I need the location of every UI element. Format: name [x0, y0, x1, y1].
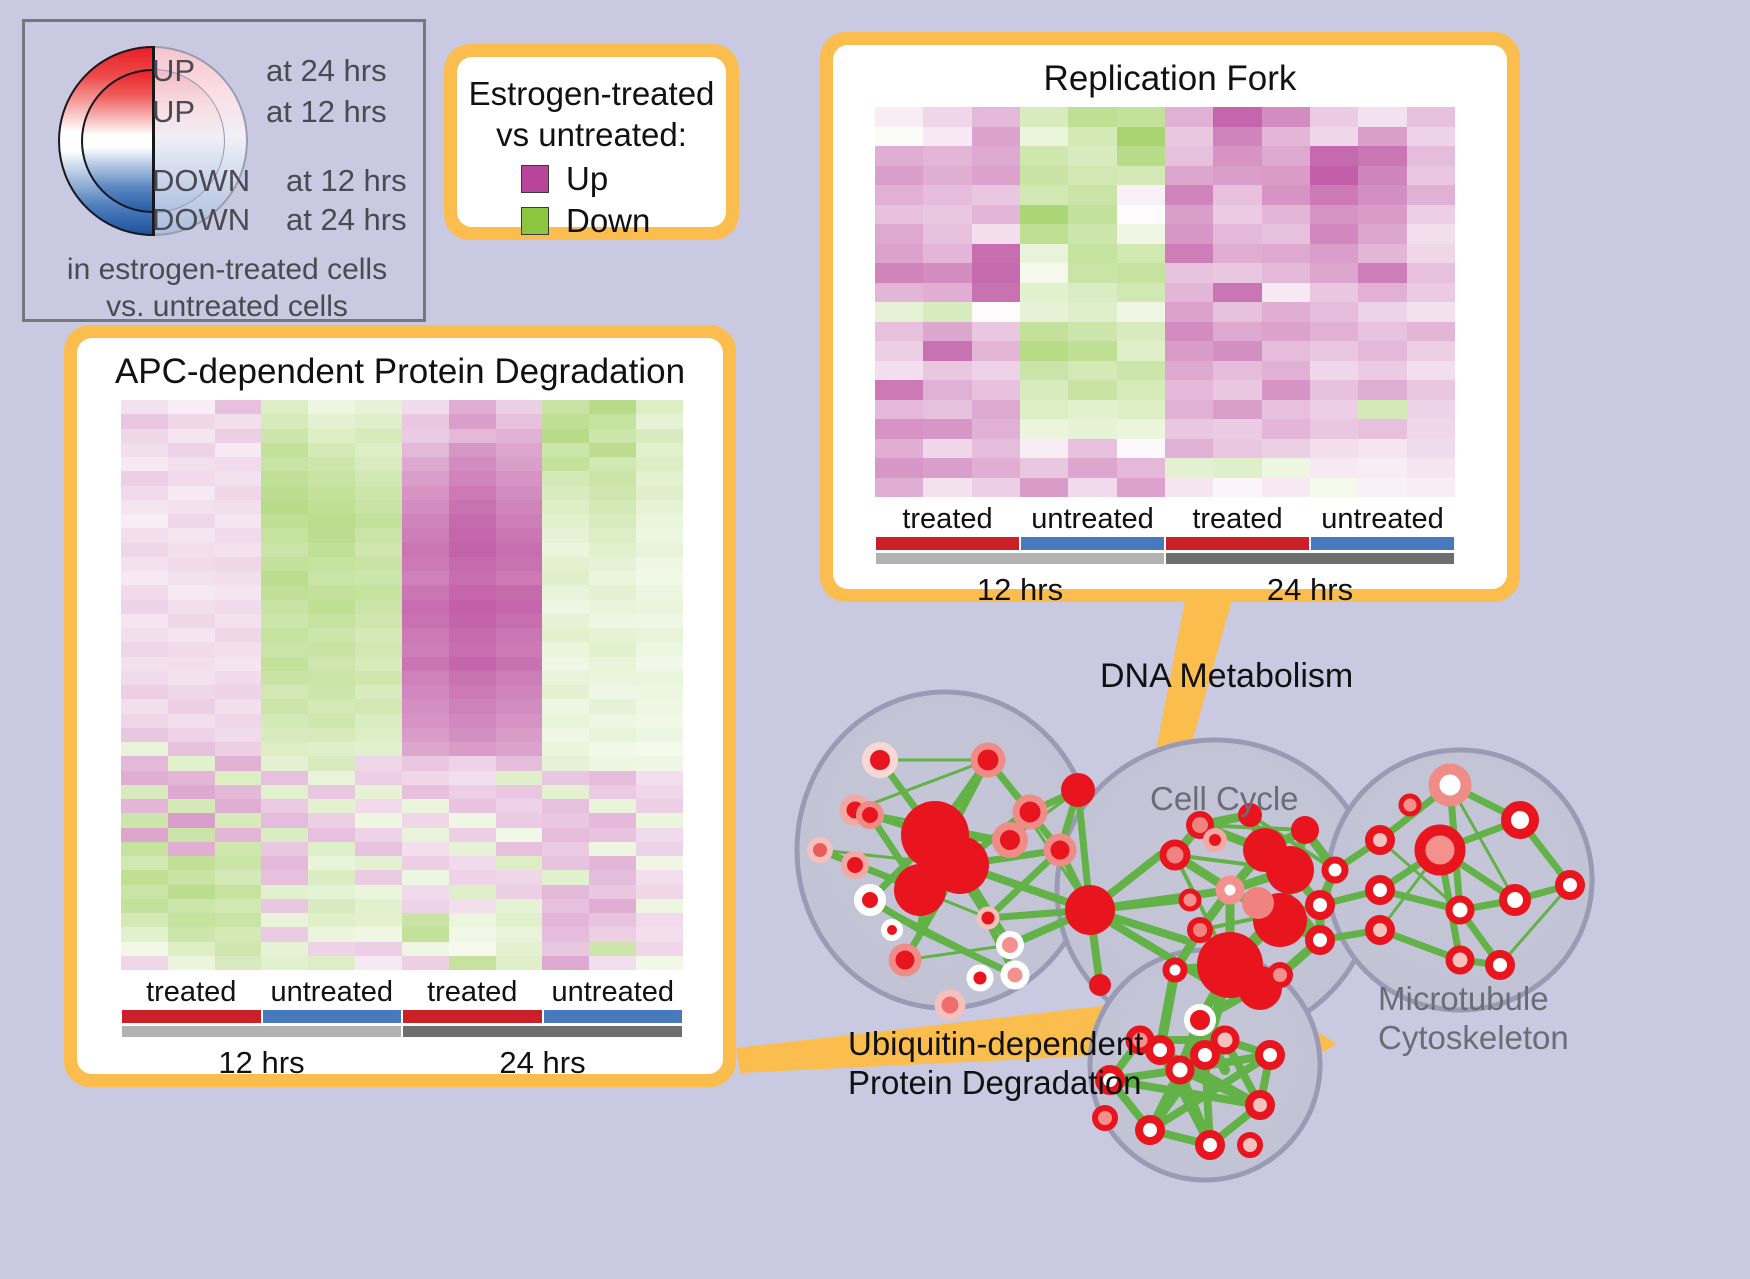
- network-node: [1139, 1119, 1161, 1141]
- heatmap-cell: [168, 785, 215, 799]
- heatmap-cell: [355, 742, 402, 756]
- heatmap-cell: [308, 543, 355, 557]
- heatmap-cell: [449, 828, 496, 842]
- heatmap-cell: [1213, 224, 1261, 244]
- heatmap-cell: [1310, 205, 1358, 225]
- heatmap-cell: [1310, 244, 1358, 264]
- heatmap-cell: [355, 557, 402, 571]
- heatmap-cell: [636, 443, 683, 457]
- ring-label-up-24: UP: [152, 53, 195, 89]
- heatmap-cell: [308, 614, 355, 628]
- heatmap-cell: [1310, 400, 1358, 420]
- heatmap-cell: [496, 828, 543, 842]
- heatmap-cell: [589, 785, 636, 799]
- heatmap-cell: [1068, 127, 1116, 147]
- heatmap-cell: [923, 380, 971, 400]
- heatmap-cell: [496, 514, 543, 528]
- heatmap-cell: [355, 785, 402, 799]
- heatmap-cell: [168, 742, 215, 756]
- heatmap-cell: [121, 600, 168, 614]
- heatmap-cell: [449, 927, 496, 941]
- heatmap-cell: [1358, 283, 1406, 303]
- heatmap-cell: [121, 614, 168, 628]
- heatmap-cell: [355, 856, 402, 870]
- heatmap-cell: [355, 927, 402, 941]
- heatmap-cell: [261, 899, 308, 913]
- heatmap-cell: [355, 913, 402, 927]
- heatmap-cell: [168, 842, 215, 856]
- heatmap-cell: [402, 756, 449, 770]
- network-node: [884, 922, 900, 938]
- heatmap-cell: [972, 458, 1020, 478]
- heatmap-cell: [449, 699, 496, 713]
- heatmap-cell: [449, 728, 496, 742]
- heatmap-cell: [121, 400, 168, 414]
- heatmap-cell: [636, 642, 683, 656]
- heatmap-cell: [589, 600, 636, 614]
- heatmap-cell: [121, 500, 168, 514]
- heatmap-cell: [589, 614, 636, 628]
- heatmap-cell: [215, 514, 262, 528]
- heatmap-cell: [875, 127, 923, 147]
- heatmap-cell: [449, 471, 496, 485]
- heatmap-cell: [1262, 205, 1310, 225]
- legend-item-up: Up: [457, 160, 726, 198]
- heatmap-cell: [589, 585, 636, 599]
- heatmap-cell: [168, 671, 215, 685]
- heatmap-cell: [261, 443, 308, 457]
- axis-treatment-bar: [263, 1010, 402, 1023]
- heatmap-cell: [1117, 107, 1165, 127]
- network-node: [1369, 829, 1391, 851]
- heatmap-cell: [402, 642, 449, 656]
- heatmap-cell: [1068, 322, 1116, 342]
- heatmap-cell: [496, 500, 543, 514]
- heatmap-cell: [1117, 185, 1165, 205]
- heatmap-cell: [496, 414, 543, 428]
- heatmap-cell: [542, 828, 589, 842]
- heatmap-cell: [402, 671, 449, 685]
- heatmap-cell: [355, 728, 402, 742]
- axis-group-labels: treateduntreatedtreateduntreated: [121, 976, 683, 1010]
- heatmap-cell: [1310, 107, 1358, 127]
- network-node: [1199, 1134, 1221, 1156]
- ring-legend-footer-line1: in estrogen-treated cells: [25, 252, 429, 289]
- heatmap-cell: [1117, 166, 1165, 186]
- heatmap-cell: [215, 443, 262, 457]
- heatmap-cell: [449, 842, 496, 856]
- axis-group-label: treated: [875, 503, 1020, 536]
- heatmap-cell: [215, 828, 262, 842]
- heatmap-cell: [1117, 478, 1165, 498]
- network-node: [1489, 954, 1511, 976]
- heatmap-cell: [168, 657, 215, 671]
- heatmap-cell: [402, 400, 449, 414]
- heatmap-cell: [449, 642, 496, 656]
- heatmap-cell: [215, 471, 262, 485]
- heatmap-cell: [168, 714, 215, 728]
- heatmap-cell: [636, 471, 683, 485]
- heatmap-cell: [308, 671, 355, 685]
- heatmap-cell: [496, 657, 543, 671]
- heatmap-cell: [215, 585, 262, 599]
- heatmap-cell: [1020, 283, 1068, 303]
- heatmap-cell: [215, 414, 262, 428]
- ring-time-up-12: at 12 hrs: [266, 94, 387, 130]
- heatmap-cell: [402, 899, 449, 913]
- heatmap-cell: [449, 557, 496, 571]
- heatmap-cell: [496, 799, 543, 813]
- heatmap-cell: [496, 870, 543, 884]
- heatmap-cell: [875, 224, 923, 244]
- replication-fork-panel: Replication Fork treateduntreatedtreated…: [820, 32, 1520, 602]
- heatmap-cell: [168, 600, 215, 614]
- heatmap-cell: [215, 799, 262, 813]
- heatmap-cell: [589, 885, 636, 899]
- heatmap-cell: [215, 685, 262, 699]
- axis-time-bar: [403, 1026, 682, 1037]
- network-node: [1309, 929, 1331, 951]
- heatmap-cell: [449, 756, 496, 770]
- heatmap-cell: [636, 571, 683, 585]
- axis-treatment-bar: [1166, 537, 1309, 550]
- heatmap-cell: [402, 714, 449, 728]
- down-color-swatch: [521, 207, 549, 235]
- heatmap-cell: [875, 458, 923, 478]
- heatmap-cell: [589, 828, 636, 842]
- heatmap-cell: [1213, 146, 1261, 166]
- heatmap-cell: [121, 514, 168, 528]
- heatmap-cell: [542, 927, 589, 941]
- heatmap-cell: [449, 956, 496, 970]
- heatmap-cell: [1358, 244, 1406, 264]
- heatmap-cell: [1068, 341, 1116, 361]
- heatmap-cell: [1310, 185, 1358, 205]
- heatmap-cell: [449, 870, 496, 884]
- ring-label-up-12: UP: [152, 94, 195, 130]
- heatmap-cell: [355, 771, 402, 785]
- network-node: [999, 934, 1021, 956]
- heatmap-cell: [355, 628, 402, 642]
- heatmap-cell: [355, 642, 402, 656]
- heatmap-cell: [542, 614, 589, 628]
- heatmap-cell: [308, 457, 355, 471]
- heatmap-cell: [589, 528, 636, 542]
- heatmap-cell: [355, 870, 402, 884]
- heatmap-cell: [168, 414, 215, 428]
- heatmap-cell: [542, 585, 589, 599]
- heatmap-cell: [589, 471, 636, 485]
- network-node: [894, 864, 946, 916]
- heatmap-cell: [923, 107, 971, 127]
- network-node: [1506, 806, 1534, 834]
- heatmap-cell: [261, 642, 308, 656]
- heatmap-cell: [1358, 380, 1406, 400]
- heatmap-cell: [402, 799, 449, 813]
- heatmap-cell: [542, 714, 589, 728]
- heatmap-cell: [1068, 419, 1116, 439]
- apc-heatmap: [121, 400, 683, 970]
- heatmap-cell: [589, 927, 636, 941]
- heatmap-cell: [261, 500, 308, 514]
- heatmap-cell: [308, 429, 355, 443]
- heatmap-cell: [1262, 341, 1310, 361]
- heatmap-cell: [121, 671, 168, 685]
- heatmap-cell: [308, 600, 355, 614]
- heatmap-cell: [215, 913, 262, 927]
- heatmap-cell: [496, 699, 543, 713]
- heatmap-cell: [402, 571, 449, 585]
- heatmap-cell: [261, 870, 308, 884]
- heatmap-cell: [308, 870, 355, 884]
- heatmap-cell: [215, 543, 262, 557]
- heatmap-cell: [1117, 400, 1165, 420]
- heatmap-cell: [355, 600, 402, 614]
- heatmap-cell: [542, 671, 589, 685]
- heatmap-cell: [972, 341, 1020, 361]
- heatmap-cell: [636, 771, 683, 785]
- heatmap-cell: [449, 742, 496, 756]
- heatmap-cell: [589, 714, 636, 728]
- heatmap-cell: [121, 685, 168, 699]
- heatmap-cell: [355, 543, 402, 557]
- heatmap-cell: [542, 657, 589, 671]
- heatmap-cell: [168, 728, 215, 742]
- heatmap-cell: [215, 927, 262, 941]
- heatmap-cell: [215, 699, 262, 713]
- heatmap-cell: [542, 400, 589, 414]
- heatmap-cell: [972, 478, 1020, 498]
- heatmap-cell: [1165, 127, 1213, 147]
- heatmap-cell: [636, 927, 683, 941]
- heatmap-cell: [972, 439, 1020, 459]
- heatmap-cell: [1407, 380, 1455, 400]
- heatmap-cell: [215, 528, 262, 542]
- heatmap-cell: [355, 585, 402, 599]
- heatmap-cell: [1407, 146, 1455, 166]
- heatmap-cell: [496, 571, 543, 585]
- heatmap-cell: [308, 771, 355, 785]
- heatmap-cell: [215, 942, 262, 956]
- heatmap-cell: [308, 885, 355, 899]
- heatmap-cell: [121, 699, 168, 713]
- heatmap-cell: [308, 742, 355, 756]
- heatmap-cell: [923, 205, 971, 225]
- heatmap-cell: [972, 400, 1020, 420]
- heatmap-cell: [449, 414, 496, 428]
- heatmap-cell: [1358, 439, 1406, 459]
- heatmap-cell: [1407, 322, 1455, 342]
- heatmap-cell: [636, 856, 683, 870]
- heatmap-cell: [168, 956, 215, 970]
- heatmap-cell: [589, 457, 636, 471]
- heatmap-cell: [1213, 205, 1261, 225]
- heatmap-cell: [589, 543, 636, 557]
- network-node: [1559, 874, 1581, 896]
- heatmap-cell: [542, 885, 589, 899]
- heatmap-cell: [875, 205, 923, 225]
- heatmap-cell: [261, 414, 308, 428]
- heatmap-cell: [1020, 341, 1068, 361]
- heatmap-cell: [168, 528, 215, 542]
- heatmap-cell: [636, 414, 683, 428]
- axis-treatment-bars: [121, 1010, 683, 1026]
- ring-time-down-24: at 24 hrs: [286, 202, 407, 238]
- heatmap-cell: [308, 443, 355, 457]
- heatmap-cell: [1165, 107, 1213, 127]
- heatmap-cell: [1407, 478, 1455, 498]
- heatmap-cell: [121, 557, 168, 571]
- heatmap-cell: [1213, 478, 1261, 498]
- heatmap-cell: [261, 457, 308, 471]
- heatmap-cell: [1358, 458, 1406, 478]
- heatmap-cell: [168, 500, 215, 514]
- heatmap-cell: [589, 756, 636, 770]
- heatmap-cell: [923, 458, 971, 478]
- heatmap-cell: [496, 714, 543, 728]
- heatmap-cell: [308, 956, 355, 970]
- heatmap-cell: [636, 813, 683, 827]
- heatmap-cell: [1310, 341, 1358, 361]
- heatmap-cell: [449, 571, 496, 585]
- heatmap-cell: [355, 471, 402, 485]
- network-node: [1163, 843, 1187, 867]
- heatmap-cell: [972, 244, 1020, 264]
- heatmap-cell: [636, 842, 683, 856]
- heatmap-cell: [308, 585, 355, 599]
- heatmap-cell: [168, 771, 215, 785]
- heatmap-cell: [1213, 166, 1261, 186]
- heatmap-cell: [1068, 107, 1116, 127]
- heatmap-cell: [215, 557, 262, 571]
- heatmap-cell: [496, 471, 543, 485]
- network-node: [1266, 846, 1314, 894]
- heatmap-cell: [308, 828, 355, 842]
- heatmap-cell: [402, 685, 449, 699]
- heatmap-cell: [636, 557, 683, 571]
- heatmap-cell: [449, 514, 496, 528]
- heatmap-cell: [1310, 419, 1358, 439]
- heatmap-cell: [1068, 478, 1116, 498]
- heatmap-cell: [402, 543, 449, 557]
- axis-time-bar: [1166, 553, 1454, 564]
- heatmap-cell: [168, 471, 215, 485]
- heatmap-cell: [496, 785, 543, 799]
- up-color-swatch: [521, 165, 549, 193]
- heatmap-cell: [1068, 439, 1116, 459]
- heatmap-cell: [261, 585, 308, 599]
- network-node: [1181, 891, 1199, 909]
- heatmap-cell: [636, 785, 683, 799]
- heatmap-cell: [972, 361, 1020, 381]
- heatmap-cell: [1068, 302, 1116, 322]
- heatmap-cell: [1407, 107, 1455, 127]
- heatmap-cell: [875, 263, 923, 283]
- heatmap-cell: [261, 400, 308, 414]
- heatmap-cell: [168, 543, 215, 557]
- heatmap-cell: [121, 927, 168, 941]
- heatmap-cell: [923, 263, 971, 283]
- network-node: [1190, 920, 1210, 940]
- heatmap-cell: [215, 671, 262, 685]
- cluster-label-microtubule: Microtubule Cytoskeleton: [1378, 980, 1569, 1058]
- heatmap-cell: [875, 322, 923, 342]
- heatmap-cell: [542, 457, 589, 471]
- heatmap-cell: [1358, 341, 1406, 361]
- heatmap-cell: [1165, 478, 1213, 498]
- heatmap-cell: [168, 885, 215, 899]
- heatmap-cell: [1165, 205, 1213, 225]
- heatmap-cell: [589, 571, 636, 585]
- heatmap-cell: [121, 942, 168, 956]
- heatmap-cell: [542, 699, 589, 713]
- heatmap-cell: [1407, 127, 1455, 147]
- heatmap-cell: [542, 471, 589, 485]
- apc-axis: treateduntreatedtreateduntreated12 hrs24…: [121, 976, 683, 1081]
- network-node: [1240, 1135, 1260, 1155]
- network-node: [1449, 899, 1471, 921]
- heatmap-cell: [972, 283, 1020, 303]
- heatmap-cell: [121, 885, 168, 899]
- heatmap-cell: [589, 414, 636, 428]
- heatmap-cell: [261, 913, 308, 927]
- heatmap-cell: [402, 471, 449, 485]
- heatmap-cell: [589, 628, 636, 642]
- heatmap-cell: [355, 671, 402, 685]
- heatmap-cell: [402, 628, 449, 642]
- inner-ring-left-half: [81, 69, 153, 213]
- heatmap-cell: [261, 685, 308, 699]
- network-node: [1291, 816, 1319, 844]
- network-node: [1503, 888, 1527, 912]
- heatmap-cell: [542, 728, 589, 742]
- heatmap-cell: [355, 657, 402, 671]
- heatmap-cell: [168, 899, 215, 913]
- heatmap-cell: [636, 671, 683, 685]
- ring-legend-box: UP at 24 hrs UP at 12 hrs DOWN at 12 hrs…: [22, 19, 426, 322]
- heatmap-cell: [1262, 263, 1310, 283]
- heatmap-cell: [402, 699, 449, 713]
- heatmap-cell: [496, 486, 543, 500]
- heatmap-cell: [215, 614, 262, 628]
- heatmap-cell: [355, 443, 402, 457]
- heatmap-cell: [402, 913, 449, 927]
- heatmap-cell: [589, 728, 636, 742]
- heatmap-cell: [449, 856, 496, 870]
- heatmap-cell: [1213, 322, 1261, 342]
- heatmap-cell: [1213, 302, 1261, 322]
- heatmap-cell: [1407, 419, 1455, 439]
- heatmap-cell: [1407, 439, 1455, 459]
- heatmap-cell: [496, 457, 543, 471]
- heatmap-cell: [261, 514, 308, 528]
- heatmap-cell: [1213, 341, 1261, 361]
- heatmap-cell: [875, 185, 923, 205]
- heatmap-cell: [1213, 380, 1261, 400]
- heatmap-cell: [636, 500, 683, 514]
- heatmap-cell: [1262, 322, 1310, 342]
- heatmap-cell: [355, 956, 402, 970]
- heatmap-cell: [496, 899, 543, 913]
- heatmap-cell: [168, 429, 215, 443]
- heatmap-cell: [1020, 322, 1068, 342]
- axis-treatment-bars: [875, 537, 1455, 553]
- heatmap-cell: [1117, 439, 1165, 459]
- heatmap-cell: [308, 642, 355, 656]
- ring-label-down-12: DOWN: [152, 163, 250, 199]
- network-node: [1401, 796, 1419, 814]
- heatmap-cell: [542, 429, 589, 443]
